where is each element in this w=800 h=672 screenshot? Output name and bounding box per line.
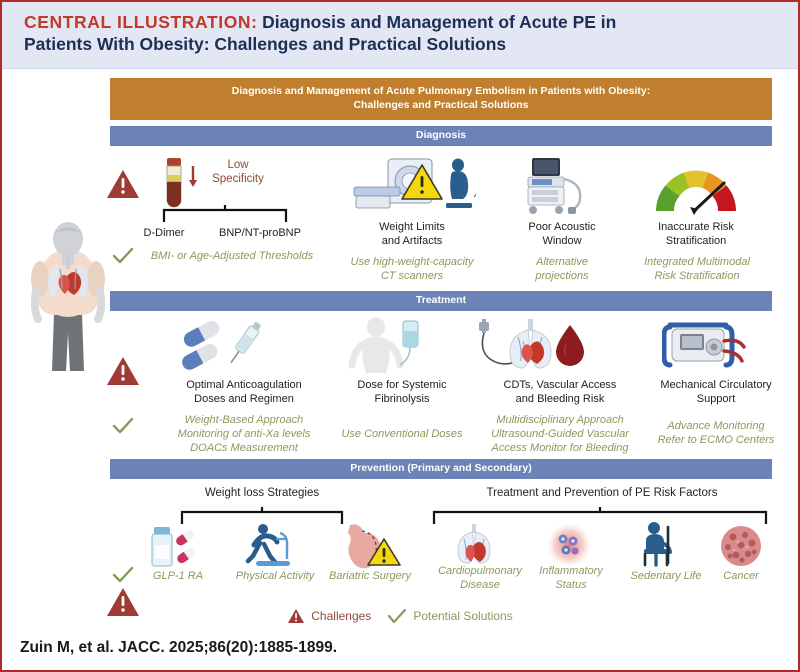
banner-line2: Challenges and Practical Solutions	[353, 99, 528, 113]
solution-check-icon-treatment	[112, 417, 134, 435]
ecmo-device-icon	[662, 321, 746, 376]
solution-multimodal-stratification: Integrated Multimodal Risk Stratificatio…	[622, 255, 772, 283]
prevention-cardio-l1: Cardiopulmonary	[426, 564, 534, 578]
prevention-label-cancer: Cancer	[706, 569, 776, 583]
challenge-fibrinolysis: Dose for Systemic Fibrinolysis	[332, 379, 472, 407]
prevention-cardio-l2: Disease	[426, 578, 534, 592]
solution-fibrinolysis: Use Conventional Doses	[324, 427, 480, 441]
group-label-risk-factors: Treatment and Prevention of PE Risk Fact…	[442, 487, 762, 499]
prevention-infl-l1: Inflammatory	[524, 564, 618, 578]
legend-warning-icon	[287, 608, 305, 624]
prevention-infl-l2: Status	[524, 578, 618, 592]
risk-gauge-icon	[650, 165, 742, 222]
legend-label-challenges: Challenges	[311, 609, 371, 623]
challenge-mcs-l1: Mechanical Circulatory	[636, 379, 796, 393]
solution-ct-scanners: Use high-weight-capacity CT scanners	[332, 255, 492, 283]
citation-text: Zuin M, et al. JACC. 2025;86(20):1885-18…	[20, 639, 337, 657]
figure-canvas: Diagnosis and Management of Acute Pulmon…	[2, 69, 798, 613]
legend-item-challenges: Challenges	[287, 608, 371, 624]
solution-mcs-l2: Refer to ECMO Centers	[632, 433, 800, 447]
prevention-label-sedentary: Sedentary Life	[614, 569, 718, 583]
challenge-cdt-l1: CDTs, Vascular Access	[472, 379, 648, 393]
challenge-risk-stratification: Inaccurate Risk Stratification	[626, 221, 766, 249]
iv-infusion-icon	[348, 317, 422, 378]
challenge-d-dimer: D-Dimer	[124, 227, 204, 241]
obese-patient-illustration	[24, 221, 114, 376]
challenge-acoustic-l1: Poor Acoustic	[502, 221, 622, 235]
solution-mechanical-circulatory-support: Advance Monitoring Refer to ECMO Centers	[632, 419, 800, 447]
prevention-label-inflammatory: Inflammatory Status	[524, 564, 618, 592]
section-bar-prevention: Prevention (Primary and Secondary)	[110, 459, 772, 479]
orange-title-banner: Diagnosis and Management of Acute Pulmon…	[110, 78, 772, 120]
banner-line1: Diagnosis and Management of Acute Pulmon…	[232, 85, 651, 99]
solution-alternative-projections: Alternative projections	[502, 255, 622, 283]
challenge-anticoag-l2: Doses and Regimen	[154, 393, 334, 407]
solution-anticoagulation: Weight-Based Approach Monitoring of anti…	[148, 413, 340, 455]
low-specificity-line1: Low	[198, 159, 278, 173]
legend-item-solutions: Potential Solutions	[387, 608, 512, 624]
ct-scanner-icon	[350, 157, 476, 220]
header-title-line2-row: Patients With Obesity: Challenges and Pr…	[24, 34, 776, 56]
figure-header: CENTRAL ILLUSTRATION: Diagnosis and Mana…	[2, 2, 798, 69]
solution-risk-l1: Integrated Multimodal	[622, 255, 772, 269]
central-illustration-figure: CENTRAL ILLUSTRATION: Diagnosis and Mana…	[0, 0, 800, 672]
challenge-weight-limits: Weight Limits and Artifacts	[342, 221, 482, 249]
header-title-line1: Diagnosis and Management of Acute PE in	[262, 12, 616, 32]
solution-cdt-l2: Ultrasound-Guided Vascular	[464, 427, 656, 441]
bariatric-surgery-icon	[338, 521, 402, 574]
cancer-cell-icon	[718, 523, 764, 574]
challenge-fib-l1: Dose for Systemic	[332, 379, 472, 393]
solution-cdt-vascular-access: Multidisciplinary Approach Ultrasound-Gu…	[464, 413, 656, 455]
challenge-mcs-l2: Support	[636, 393, 796, 407]
solution-proj-l1: Alternative	[502, 255, 622, 269]
solution-anticoag-l2: Monitoring of anti-Xa levels	[148, 427, 340, 441]
challenge-anticoag-l1: Optimal Anticoagulation	[154, 379, 334, 393]
challenge-cdt-l2: and Bleeding Risk	[472, 393, 648, 407]
sedentary-person-icon	[632, 521, 684, 574]
biomarker-bracket	[162, 205, 288, 228]
solution-check-icon	[112, 247, 134, 265]
legend-check-icon	[387, 608, 407, 624]
challenge-bnp: BNP/NT-proBNP	[202, 227, 318, 241]
solution-risk-l2: Risk Stratification	[622, 269, 772, 283]
solution-anticoag-l1: Weight-Based Approach	[148, 413, 340, 427]
solution-ct-l2: CT scanners	[332, 269, 492, 283]
pills-syringe-icon	[174, 319, 264, 376]
solution-fib-l1: Use Conventional Doses	[324, 427, 480, 441]
legend-label-solutions: Potential Solutions	[413, 609, 512, 623]
solution-cdt-l1: Multidisciplinary Approach	[464, 413, 656, 427]
header-title-line2: Patients With Obesity: Challenges and Pr…	[24, 34, 506, 54]
challenge-mechanical-circulatory-support: Mechanical Circulatory Support	[636, 379, 796, 407]
citation-bar: Zuin M, et al. JACC. 2025;86(20):1885-18…	[2, 624, 798, 670]
solution-anticoag-l3: DOACs Measurement	[148, 441, 340, 455]
catheter-lungs-bleeding-icon	[476, 317, 586, 378]
pill-bottle-icon	[148, 525, 204, 574]
solution-ct-l1: Use high-weight-capacity	[332, 255, 492, 269]
challenge-risk-l1: Inaccurate Risk	[626, 221, 766, 235]
solution-biomarker-thresholds: BMI- or Age-Adjusted Thresholds	[142, 249, 322, 263]
section-bar-treatment: Treatment	[110, 291, 772, 311]
challenge-acoustic-l2: Window	[502, 235, 622, 249]
challenge-weight-limits-l2: and Artifacts	[342, 235, 482, 249]
treadmill-icon	[242, 523, 296, 574]
central-illustration-label: CENTRAL ILLUSTRATION:	[24, 12, 258, 32]
solution-check-icon-prevention	[112, 566, 134, 584]
challenge-risk-l2: Stratification	[626, 235, 766, 249]
challenge-cdt-vascular-access: CDTs, Vascular Access and Bleeding Risk	[472, 379, 648, 407]
figure-legend: Challenges Potential Solutions	[2, 608, 798, 624]
low-specificity-line2: Specificity	[198, 173, 278, 187]
low-specificity-annotation: Low Specificity	[198, 159, 278, 187]
prevention-label-bariatric-surgery: Bariatric Surgery	[314, 569, 426, 583]
challenge-anticoagulation: Optimal Anticoagulation Doses and Regime…	[154, 379, 334, 407]
solution-proj-l2: projections	[502, 269, 622, 283]
solution-cdt-l3: Access Monitor for Bleeding	[464, 441, 656, 455]
challenge-weight-limits-l1: Weight Limits	[342, 221, 482, 235]
challenge-acoustic-window: Poor Acoustic Window	[502, 221, 622, 249]
solution-mcs-l1: Advance Monitoring	[632, 419, 800, 433]
prevention-label-cardiopulmonary: Cardiopulmonary Disease	[426, 564, 534, 592]
header-title-block: CENTRAL ILLUSTRATION: Diagnosis and Mana…	[24, 12, 776, 34]
group-label-weight-loss: Weight loss Strategies	[162, 487, 362, 499]
ultrasound-machine-icon	[514, 157, 590, 220]
challenge-fib-l2: Fibrinolysis	[332, 393, 472, 407]
down-arrow-icon	[188, 165, 198, 194]
section-bar-diagnosis: Diagnosis	[110, 126, 772, 146]
prevention-label-glp1: GLP-1 RA	[138, 569, 218, 583]
